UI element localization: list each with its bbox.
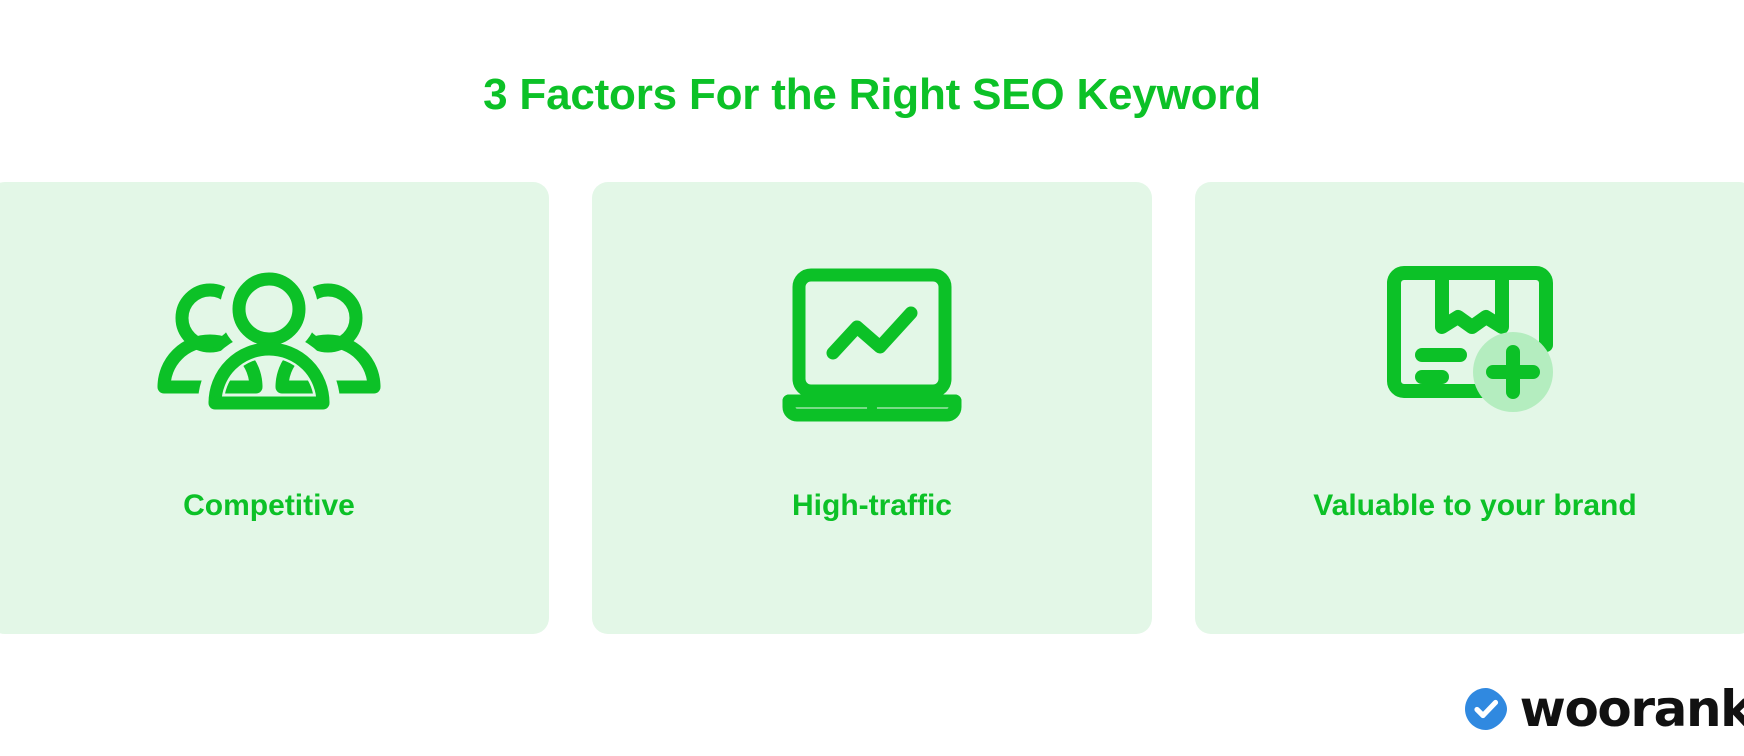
woorank-logo[interactable]: woorank — [1464, 684, 1744, 734]
factor-card-valuable-to-your-brand[interactable]: Valuable to your brand — [1195, 182, 1744, 634]
factor-card-label: Valuable to your brand — [1313, 488, 1636, 524]
laptop-chart-icon — [781, 260, 963, 430]
factor-card-high-traffic[interactable]: High-traffic — [592, 182, 1152, 634]
group-of-people-icon — [154, 260, 384, 430]
woorank-wordmark: woorank — [1520, 684, 1744, 734]
woorank-checkmark-leaf-icon — [1464, 687, 1508, 731]
page-title: 3 Factors For the Right SEO Keyword — [0, 69, 1744, 122]
factor-card-label: High-traffic — [792, 488, 952, 524]
factor-card-label: Competitive — [183, 488, 355, 524]
package-box-plus-icon — [1380, 260, 1570, 430]
factor-cards-row: Competitive High-traffic — [0, 182, 1744, 634]
factor-card-competitive[interactable]: Competitive — [0, 182, 549, 634]
infographic-page: 3 Factors For the Right SEO Keyword — [0, 0, 1744, 756]
